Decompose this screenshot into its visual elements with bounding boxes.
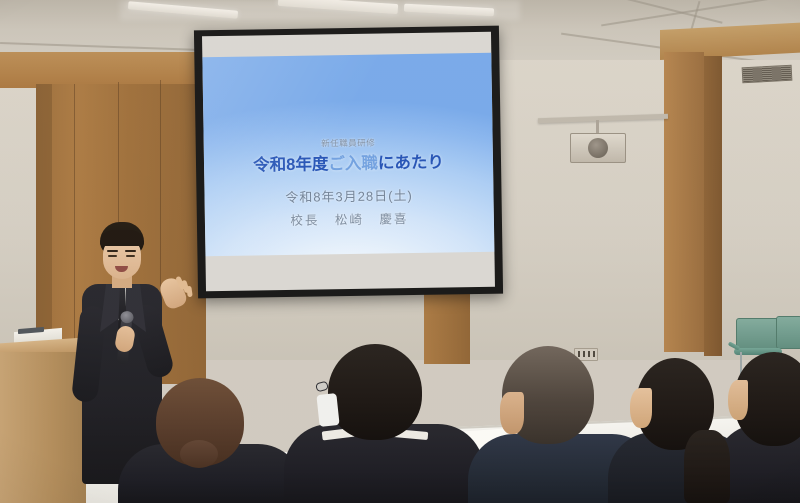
- slide-title-part-1: 令和8年度: [253, 155, 328, 174]
- ceiling-glow: [120, 0, 520, 20]
- attendee-center-left: [290, 344, 480, 503]
- projection-screen-frame: 新任職員研修 令和8年度ご入職にあたり 令和8年3月28日(土) 校長 松崎 慶…: [194, 26, 503, 299]
- slide-presenter-line: 校長 松崎 慶喜: [285, 208, 413, 229]
- presenter-eyebrow-right: [125, 250, 136, 252]
- slide-presenter-surname: 松崎: [335, 213, 364, 227]
- ceiling-projector: [570, 133, 626, 163]
- presenter-finger: [186, 286, 192, 298]
- projector-mount-stem: [596, 120, 599, 134]
- attendee-right-face-side: [630, 388, 652, 428]
- attendee-far-right-face-side: [728, 380, 748, 420]
- presenter-eye-left: [108, 255, 117, 257]
- attendee-edge-left-hair: [684, 430, 730, 503]
- presentation-slide: 新任職員研修 令和8年度ご入職にあたり 令和8年3月28日(土) 校長 松崎 慶…: [202, 53, 494, 257]
- wood-partition-corner: [704, 56, 722, 356]
- slide-title-part-2: ご入職: [328, 155, 378, 174]
- wall-vent: [742, 65, 793, 84]
- presentation-room-photo: 新任職員研修 令和8年度ご入職にあたり 令和8年3月28日(土) 校長 松崎 慶…: [0, 0, 800, 503]
- wood-partition-far-right: [664, 52, 704, 352]
- presenter-hairline: [100, 230, 144, 246]
- slide-presenter-title: 校長: [290, 213, 319, 227]
- projector-lens: [588, 138, 608, 158]
- presenter-eye-right: [126, 255, 135, 257]
- slide-title: 令和8年度ご入職にあたり: [253, 149, 444, 176]
- attendee-center-right-ear-area: [500, 392, 524, 434]
- slide-date-text: 令和8年3月28日(土): [285, 185, 413, 206]
- attendee-front-left: [118, 378, 308, 503]
- presenter-eyebrow-left: [107, 250, 118, 252]
- stacking-chair-back: [736, 318, 780, 350]
- attendee-center-left-head: [328, 344, 422, 440]
- slide-presenter-given: 慶喜: [379, 212, 408, 226]
- stacking-chair-back: [776, 316, 800, 349]
- wall-wood-trim-left: [0, 52, 210, 88]
- microphone-head: [120, 310, 134, 323]
- attendee-far-right: [728, 352, 800, 503]
- attendee-front-left-hair-bun: [180, 440, 218, 468]
- slide-eyebrow-text: 新任職員研修: [321, 137, 375, 150]
- slide-title-part-3: にあたり: [378, 154, 444, 173]
- projection-screen-surface: 新任職員研修 令和8年度ご入職にあたり 令和8年3月28日(土) 校長 松崎 慶…: [202, 32, 495, 292]
- attendee-center-left-face-mask: [316, 393, 339, 427]
- attendee-center-left-eyeglasses: [315, 381, 329, 393]
